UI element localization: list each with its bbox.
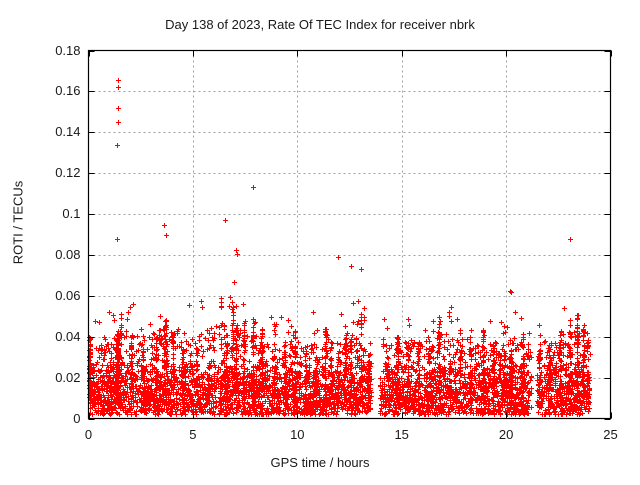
scatter-plot-svg	[0, 0, 640, 480]
y-tick-label: 0.12	[11, 165, 81, 180]
data-points	[87, 78, 593, 417]
chart-figure: Day 138 of 2023, Rate Of TEC Index for r…	[0, 0, 640, 480]
y-tick-label: 0	[11, 411, 81, 426]
y-tick-label: 0.02	[11, 370, 81, 385]
y-tick-label: 0.06	[11, 288, 81, 303]
x-tick-label: 15	[377, 427, 427, 442]
y-tick-label: 0.08	[11, 247, 81, 262]
x-tick-label: 20	[481, 427, 531, 442]
plot-area	[0, 0, 640, 485]
x-tick-label: 25	[586, 427, 636, 442]
y-tick-label: 0.04	[11, 329, 81, 344]
y-tick-label: 0.16	[11, 83, 81, 98]
x-tick-label: 10	[272, 427, 322, 442]
x-tick-label: 5	[168, 427, 218, 442]
y-tick-label: 0.1	[11, 206, 81, 221]
y-tick-label: 0.14	[11, 124, 81, 139]
x-tick-label: 0	[64, 427, 114, 442]
y-tick-label: 0.18	[11, 43, 81, 58]
